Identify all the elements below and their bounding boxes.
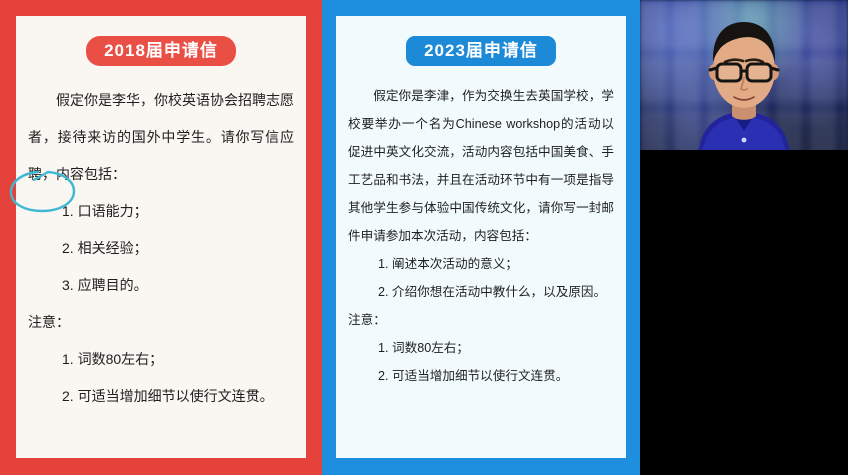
card-2023-content-item-2: 2. 介绍你想在活动中教什么，以及原因。: [348, 278, 614, 306]
card-2018: 2018届申请信 假定你是李华，你校英语协会招聘志愿者，接待来访的国外中学生。请…: [0, 0, 322, 475]
card-2023-prompt: 假定你是李津，作为交换生去英国学校，学校要举办一个名为Chinese works…: [348, 82, 614, 250]
card-2023-note-item-1: 1. 词数80左右；: [348, 334, 614, 362]
card-2023-body: 假定你是李津，作为交换生去英国学校，学校要举办一个名为Chinese works…: [348, 82, 614, 390]
card-2023-content-item-1: 1. 阐述本次活动的意义；: [348, 250, 614, 278]
card-2018-note-item-1: 1. 词数80左右；: [28, 341, 294, 378]
card-2023-paper: 2023届申请信 假定你是李津，作为交换生去英国学校，学校要举办一个名为Chin…: [336, 16, 626, 458]
card-2018-note-label: 注意：: [28, 304, 294, 341]
card-2018-content-item-1: 1. 口语能力；: [28, 193, 294, 230]
badge-2023: 2023届申请信: [406, 36, 556, 66]
card-2023: 2023届申请信 假定你是李津，作为交换生去英国学校，学校要举办一个名为Chin…: [322, 0, 640, 475]
card-2018-badge-row: 2018届申请信: [28, 36, 294, 66]
card-2023-note-item-2: 2. 可适当增加细节以使行文连贯。: [348, 362, 614, 390]
card-2018-paper: 2018届申请信 假定你是李华，你校英语协会招聘志愿者，接待来访的国外中学生。请…: [16, 16, 306, 458]
card-2018-prompt: 假定你是李华，你校英语协会招聘志愿者，接待来访的国外中学生。请你写信应聘，内容包…: [28, 82, 294, 193]
screen-root: 2018届申请信 假定你是李华，你校英语协会招聘志愿者，接待来访的国外中学生。请…: [0, 0, 848, 475]
webcam-video-tile[interactable]: [640, 0, 848, 156]
card-2023-note-label: 注意：: [348, 306, 614, 334]
slide-area: 2018届申请信 假定你是李华，你校英语协会招聘志愿者，接待来访的国外中学生。请…: [0, 0, 640, 475]
card-2023-badge-row: 2023届申请信: [348, 36, 614, 66]
card-2018-content-item-3: 3. 应聘目的。: [28, 267, 294, 304]
card-2018-note-item-2: 2. 可适当增加细节以使行文连贯。: [28, 378, 294, 415]
card-2018-content-item-2: 2. 相关经验；: [28, 230, 294, 267]
card-2018-body: 假定你是李华，你校英语协会招聘志愿者，接待来访的国外中学生。请你写信应聘，内容包…: [28, 82, 294, 415]
presenter-figure: [640, 0, 848, 156]
badge-2018: 2018届申请信: [86, 36, 236, 66]
video-empty-region: [640, 156, 848, 475]
